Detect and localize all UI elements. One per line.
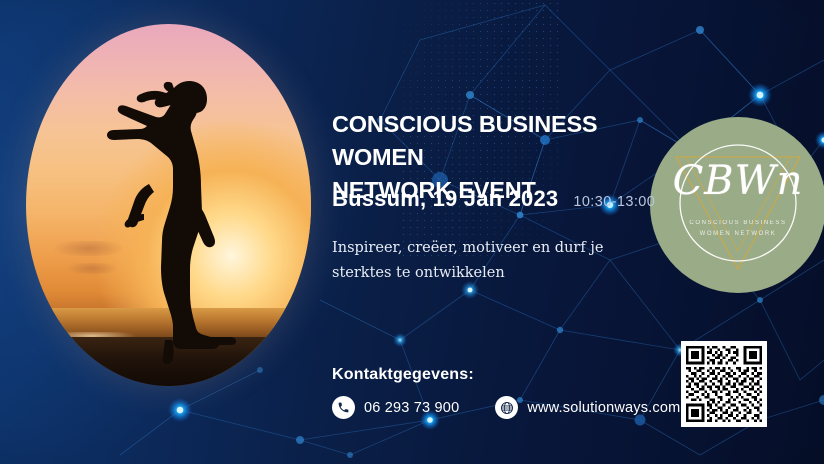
vignette-overlay bbox=[0, 0, 824, 464]
event-banner: CBWn CONSCIOUS BUSINESS WOMEN NETWORK CO… bbox=[0, 0, 824, 464]
